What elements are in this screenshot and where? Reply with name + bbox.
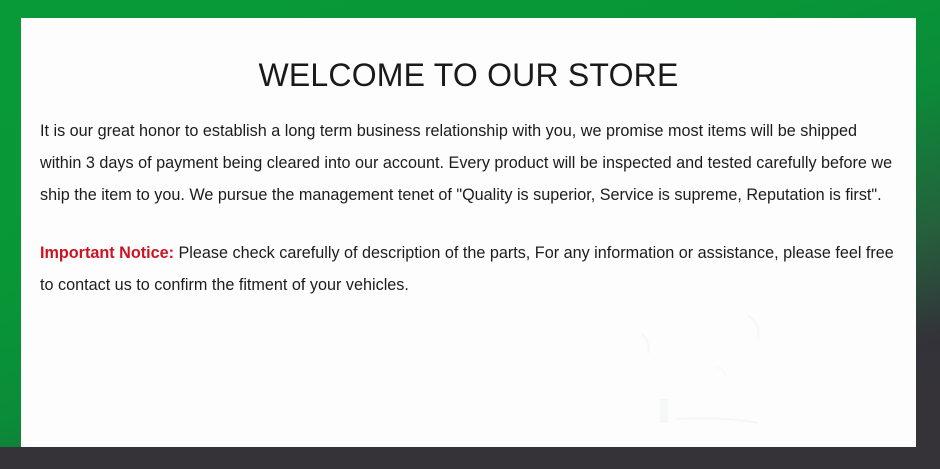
- banner-border-bottom: [0, 447, 940, 469]
- watermark-smudge-icon: [598, 307, 898, 437]
- content-sheet-inner: WELCOME TO OUR STORE It is our great hon…: [21, 18, 916, 301]
- intro-paragraph: It is our great honor to establish a lon…: [40, 93, 897, 211]
- important-notice: Important Notice: Please check carefully…: [40, 211, 897, 301]
- page-title: WELCOME TO OUR STORE: [40, 18, 897, 93]
- store-welcome-banner: WELCOME TO OUR STORE It is our great hon…: [0, 0, 940, 469]
- important-notice-label: Important Notice:: [40, 244, 174, 262]
- content-sheet: WELCOME TO OUR STORE It is our great hon…: [21, 18, 916, 447]
- banner-border-right: [916, 300, 940, 469]
